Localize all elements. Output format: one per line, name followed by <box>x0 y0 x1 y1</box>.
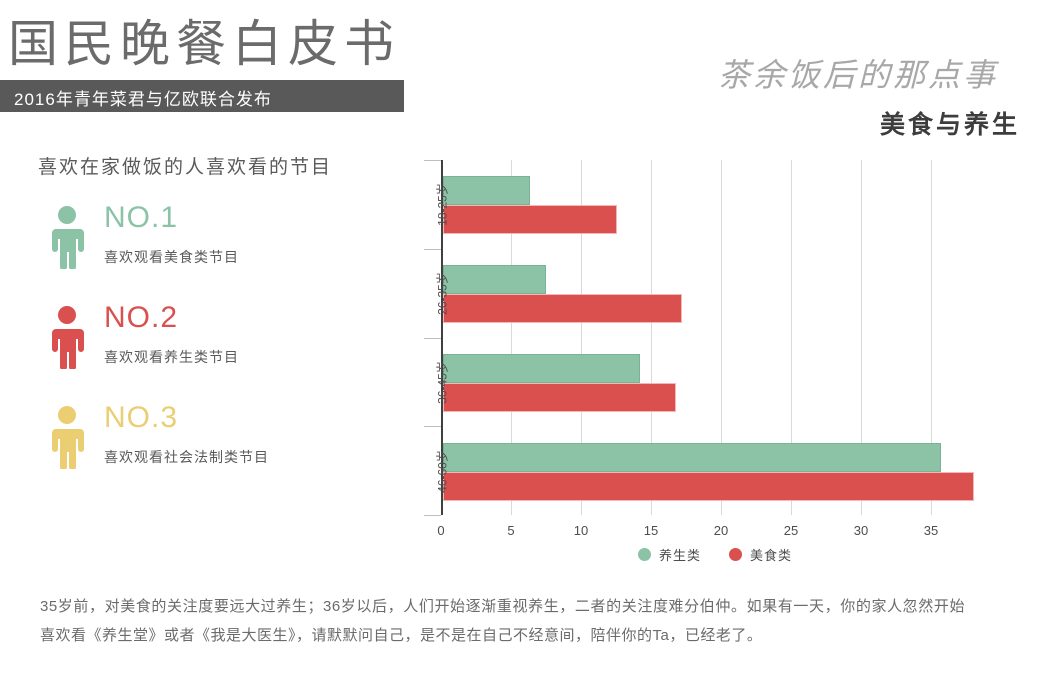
person-icon <box>38 201 96 269</box>
list-item-text: NO.2 喜欢观看养生类节目 <box>96 301 239 367</box>
ranking-panel: 喜欢在家做饭的人喜欢看的节目 NO.1 喜欢观看美食类节目 NO.2 喜欢观看养… <box>38 152 398 501</box>
legend-item-美食类[interactable]: 美食类 <box>729 545 792 564</box>
y-axis-tick <box>424 338 441 339</box>
bar-养生类-36-45岁 <box>443 354 640 383</box>
bar-养生类-26-35岁 <box>443 265 546 294</box>
rank-description: 喜欢观看养生类节目 <box>104 347 239 367</box>
legend-label: 美食类 <box>750 545 792 564</box>
x-axis-label-35: 35 <box>916 523 946 538</box>
bar-美食类-26-35岁 <box>443 294 682 323</box>
list-item-text: NO.1 喜欢观看美食类节目 <box>96 201 239 267</box>
person-icon <box>38 301 96 369</box>
rank-number: NO.1 <box>104 201 239 235</box>
x-axis-label-15: 15 <box>636 523 666 538</box>
page-title: 国民晚餐白皮书 <box>8 4 400 76</box>
footer-paragraph: 35岁前，对美食的关注度要远大过养生；36岁以后，人们开始逐渐重视养生，二者的关… <box>40 592 965 650</box>
bar-养生类-46-60岁 <box>443 443 941 472</box>
x-axis-label-0: 0 <box>426 523 456 538</box>
ranking-heading: 喜欢在家做饭的人喜欢看的节目 <box>38 152 398 179</box>
y-axis-tick <box>424 249 441 250</box>
list-item: NO.3 喜欢观看社会法制类节目 <box>38 401 398 479</box>
person-icon <box>38 401 96 469</box>
rank-description: 喜欢观看社会法制类节目 <box>104 447 269 467</box>
list-item: NO.1 喜欢观看美食类节目 <box>38 201 398 279</box>
chart-legend: 养生类美食类 <box>410 545 1020 564</box>
y-axis-tick <box>424 515 441 516</box>
chart-plot-area <box>441 160 1001 515</box>
y-axis-label-36-45岁: 36-45岁 <box>434 347 451 417</box>
rank-number: NO.2 <box>104 301 239 335</box>
bar-美食类-46-60岁 <box>443 472 974 501</box>
rank-number: NO.3 <box>104 401 269 435</box>
bar-美食类-18-25岁 <box>443 205 617 234</box>
tagline-bold: 美食与养生 <box>880 105 1020 141</box>
y-axis-label-46-60岁: 46-60岁 <box>434 436 451 506</box>
legend-label: 养生类 <box>659 545 701 564</box>
y-axis-label-18-25岁: 18-25岁 <box>434 170 451 240</box>
legend-color-swatch <box>729 548 742 561</box>
y-axis-label-26-35岁: 26-35岁 <box>434 259 451 329</box>
tagline-italic: 茶余饭后的那点事 <box>718 50 998 96</box>
subtitle-banner: 2016年青年菜君与亿欧联合发布 <box>0 80 404 112</box>
rank-description: 喜欢观看美食类节目 <box>104 247 239 267</box>
bar-养生类-18-25岁 <box>443 176 530 205</box>
list-item-text: NO.3 喜欢观看社会法制类节目 <box>96 401 269 467</box>
bar-chart: 18-25岁26-35岁36-45岁46-60岁 05101520253035 … <box>410 150 1020 570</box>
subtitle-banner-label: 2016年青年菜君与亿欧联合发布 <box>0 80 404 110</box>
y-axis-tick <box>424 160 441 161</box>
x-axis-label-30: 30 <box>846 523 876 538</box>
x-axis-label-5: 5 <box>496 523 526 538</box>
x-axis-label-25: 25 <box>776 523 806 538</box>
list-item: NO.2 喜欢观看养生类节目 <box>38 301 398 379</box>
bar-美食类-36-45岁 <box>443 383 676 412</box>
x-axis-label-20: 20 <box>706 523 736 538</box>
y-axis-tick <box>424 426 441 427</box>
legend-color-swatch <box>638 548 651 561</box>
legend-item-养生类[interactable]: 养生类 <box>638 545 701 564</box>
x-axis-label-10: 10 <box>566 523 596 538</box>
